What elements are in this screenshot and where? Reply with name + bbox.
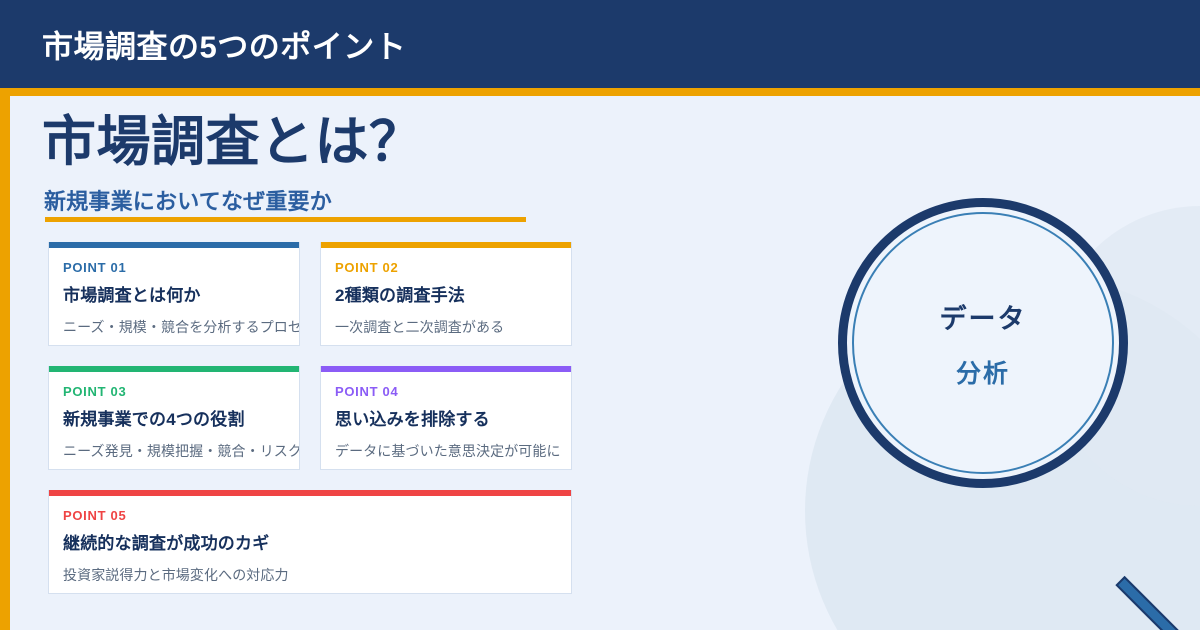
card-accent-bar [48, 490, 572, 496]
card-accent-bar [48, 366, 300, 372]
lens-label-group: データ 分析 [838, 198, 1128, 488]
point-card-02[interactable]: POINT 02 2種類の調査手法 一次調査と二次調査がある [320, 242, 572, 346]
card-body: POINT 04 思い込みを排除する データに基づいた意思決定が可能に [335, 384, 571, 461]
card-title: 新規事業での4つの役割 [63, 405, 299, 430]
card-point-label: POINT 04 [335, 384, 571, 399]
magnifying-glass-icon: データ 分析 [838, 198, 1128, 488]
card-body: POINT 01 市場調査とは何か ニーズ・規模・競合を分析するプロセス [63, 260, 299, 337]
card-body: POINT 03 新規事業での4つの役割 ニーズ発見・規模把握・競合・リスク低減 [63, 384, 299, 461]
card-title: 2種類の調査手法 [335, 281, 571, 306]
point-card-03[interactable]: POINT 03 新規事業での4つの役割 ニーズ発見・規模把握・競合・リスク低減 [48, 366, 300, 470]
header-bar: 市場調査の5つのポイント [0, 0, 1200, 88]
card-accent-bar [320, 242, 572, 248]
card-description: ニーズ・規模・競合を分析するプロセス [63, 317, 299, 337]
lens-label-sub: 分析 [956, 354, 1010, 390]
lens-label-main: データ [940, 297, 1027, 336]
card-point-label: POINT 05 [63, 508, 571, 523]
point-card-04[interactable]: POINT 04 思い込みを排除する データに基づいた意思決定が可能に [320, 366, 572, 470]
header-title: 市場調査の5つのポイント [42, 22, 406, 67]
point-card-05[interactable]: POINT 05 継続的な調査が成功のカギ 投資家説得力と市場変化への対応力 [48, 490, 572, 594]
content-canvas: 市場調査とは？ 新規事業においてなぜ重要か POINT 01 市場調査とは何か … [10, 96, 1200, 630]
card-title: 市場調査とは何か [63, 281, 299, 306]
card-accent-bar [320, 366, 572, 372]
card-point-label: POINT 03 [63, 384, 299, 399]
left-accent-stripe [0, 96, 10, 630]
point-card-01[interactable]: POINT 01 市場調査とは何か ニーズ・規模・競合を分析するプロセス [48, 242, 300, 346]
page-title: 市場調査とは？ [42, 114, 424, 171]
card-description: データに基づいた意思決定が可能に [335, 441, 571, 461]
card-description: ニーズ発見・規模把握・競合・リスク低減 [63, 441, 299, 461]
title-underline [45, 217, 526, 222]
card-body: POINT 05 継続的な調査が成功のカギ 投資家説得力と市場変化への対応力 [63, 508, 571, 585]
card-body: POINT 02 2種類の調査手法 一次調査と二次調査がある [335, 260, 571, 337]
card-description: 一次調査と二次調査がある [335, 317, 571, 337]
header-accent-rule [0, 88, 1200, 96]
card-point-label: POINT 02 [335, 260, 571, 275]
card-accent-bar [48, 242, 300, 248]
page-subtitle: 新規事業においてなぜ重要か [44, 184, 332, 216]
card-title: 思い込みを排除する [335, 405, 571, 430]
card-point-label: POINT 01 [63, 260, 299, 275]
card-title: 継続的な調査が成功のカギ [63, 529, 571, 554]
card-description: 投資家説得力と市場変化への対応力 [63, 565, 571, 585]
point-card-grid: POINT 01 市場調査とは何か ニーズ・規模・競合を分析するプロセス POI… [10, 242, 610, 622]
slide-root: 市場調査の5つのポイント 市場調査とは？ 新規事業においてなぜ重要か POINT… [0, 0, 1200, 630]
